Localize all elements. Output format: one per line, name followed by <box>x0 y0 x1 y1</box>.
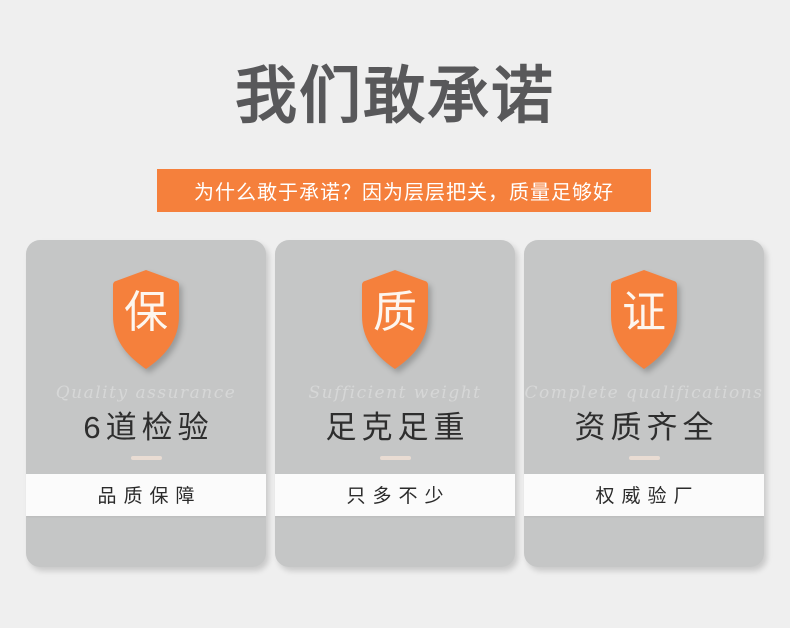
shield-icon: 保 <box>108 268 184 372</box>
card-band: 权威验厂 <box>524 474 764 516</box>
shield-character: 证 <box>606 268 682 358</box>
promise-card[interactable]: 证 Complete qualifications 资质齐全 权威验厂 <box>524 240 764 567</box>
shield-icon: 证 <box>606 268 682 372</box>
card-band: 品质保障 <box>26 474 266 516</box>
promise-card[interactable]: 保 Quality assurance 6道检验 品质保障 <box>26 240 266 567</box>
shield-character: 质 <box>357 268 433 358</box>
subtitle-text: 为什么敢于承诺？因为层层把关，质量足够好 <box>194 176 614 205</box>
card-title: 资质齐全 <box>570 411 719 445</box>
card-band-text: 品质保障 <box>90 481 201 508</box>
card-title: 6道检验 <box>78 411 213 445</box>
mini-divider <box>131 456 162 460</box>
mini-divider <box>380 456 411 460</box>
script-subtitle: Quality assurance <box>56 381 237 405</box>
card-band: 只多不少 <box>275 474 515 516</box>
script-subtitle: Complete qualifications <box>525 381 764 405</box>
card-band-text: 只多不少 <box>339 481 450 508</box>
promise-section: 我们敢承诺 为什么敢于承诺？因为层层把关，质量足够好 保 Quality ass… <box>0 42 790 138</box>
shield-icon: 质 <box>357 268 433 372</box>
subtitle-banner: 为什么敢于承诺？因为层层把关，质量足够好 <box>157 169 651 212</box>
script-subtitle: Sufficient weight <box>308 381 481 405</box>
promise-card[interactable]: 质 Sufficient weight 足克足重 只多不少 <box>275 240 515 567</box>
card-band-text: 权威验厂 <box>588 481 699 508</box>
promise-card-list: 保 Quality assurance 6道检验 品质保障 质 Sufficie… <box>0 240 790 567</box>
card-title: 足克足重 <box>321 411 470 445</box>
page-title: 我们敢承诺 <box>0 42 790 138</box>
mini-divider <box>629 456 660 460</box>
shield-character: 保 <box>108 268 184 358</box>
